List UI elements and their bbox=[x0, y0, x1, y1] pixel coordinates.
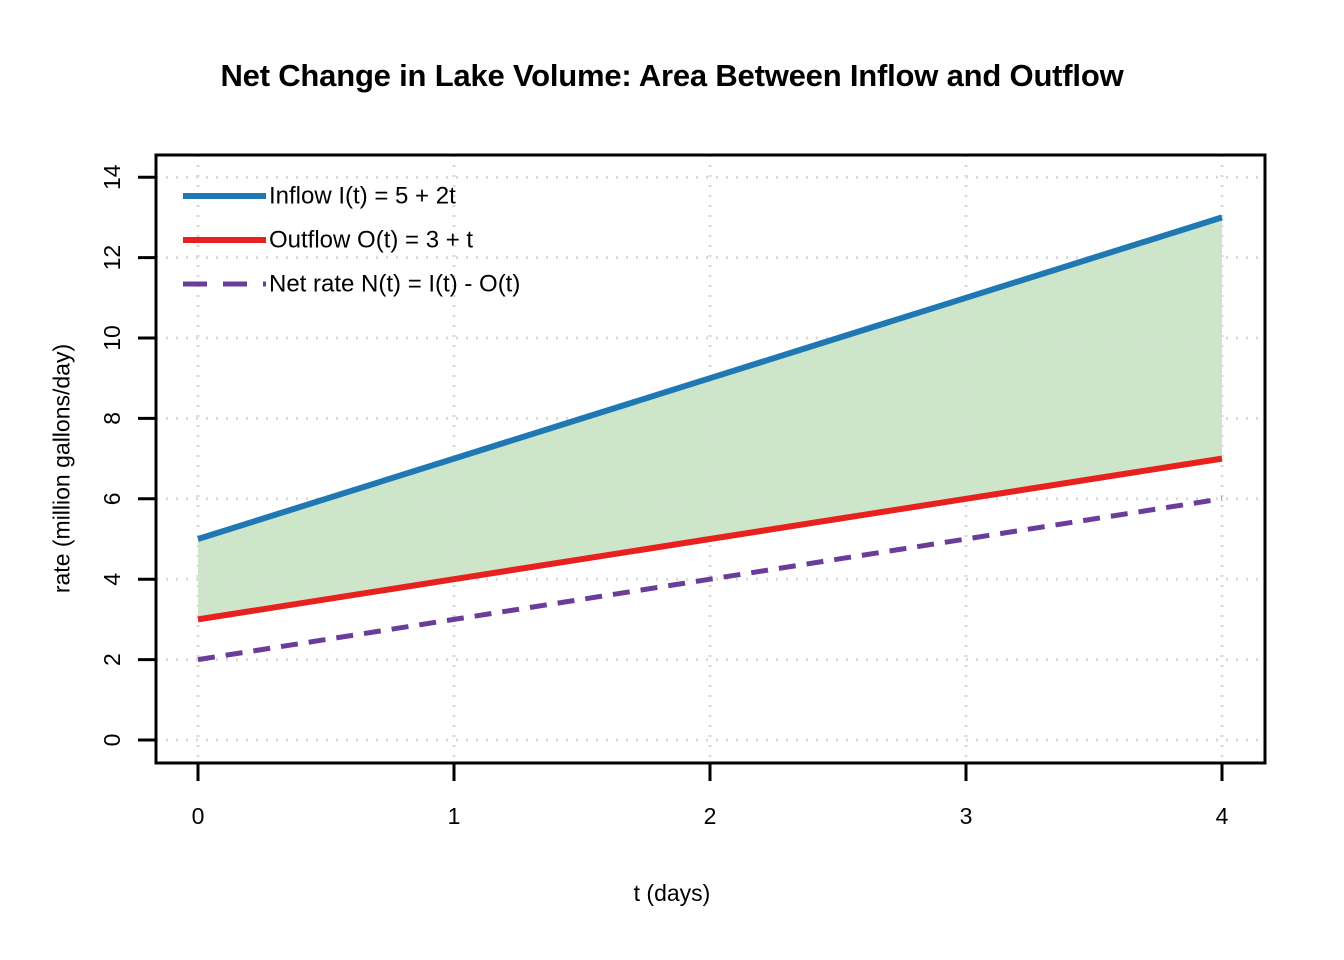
y-tick-label: 4 bbox=[99, 573, 125, 586]
x-tick-label: 4 bbox=[1216, 803, 1229, 829]
x-axis-label: t (days) bbox=[0, 880, 1344, 907]
legend-label-net: Net rate N(t) = I(t) - O(t) bbox=[269, 271, 520, 298]
y-axis-label: rate (million gallons/day) bbox=[49, 159, 76, 779]
x-axis-ticks: 01234 bbox=[192, 763, 1229, 829]
y-tick-label: 14 bbox=[99, 164, 125, 190]
x-tick-label: 3 bbox=[960, 803, 973, 829]
y-tick-label: 6 bbox=[99, 492, 125, 505]
chart-figure: Net Change in Lake Volume: Area Between … bbox=[0, 0, 1344, 960]
y-tick-label: 2 bbox=[99, 653, 125, 666]
legend-label-inflow: Inflow I(t) = 5 + 2t bbox=[269, 183, 456, 210]
y-axis-ticks: 02468101214 bbox=[99, 164, 156, 746]
y-tick-label: 10 bbox=[99, 325, 125, 351]
y-tick-label: 8 bbox=[99, 412, 125, 425]
y-tick-label: 0 bbox=[99, 734, 125, 747]
x-tick-label: 2 bbox=[704, 803, 717, 829]
plot-canvas: 01234 02468101214 Inflow I(t) = 5 + 2tOu… bbox=[0, 0, 1344, 960]
y-tick-label: 12 bbox=[99, 245, 125, 271]
chart-legend: Inflow I(t) = 5 + 2tOutflow O(t) = 3 + t… bbox=[183, 183, 520, 298]
legend-label-outflow: Outflow O(t) = 3 + t bbox=[269, 227, 473, 254]
x-tick-label: 1 bbox=[448, 803, 461, 829]
x-tick-label: 0 bbox=[192, 803, 205, 829]
